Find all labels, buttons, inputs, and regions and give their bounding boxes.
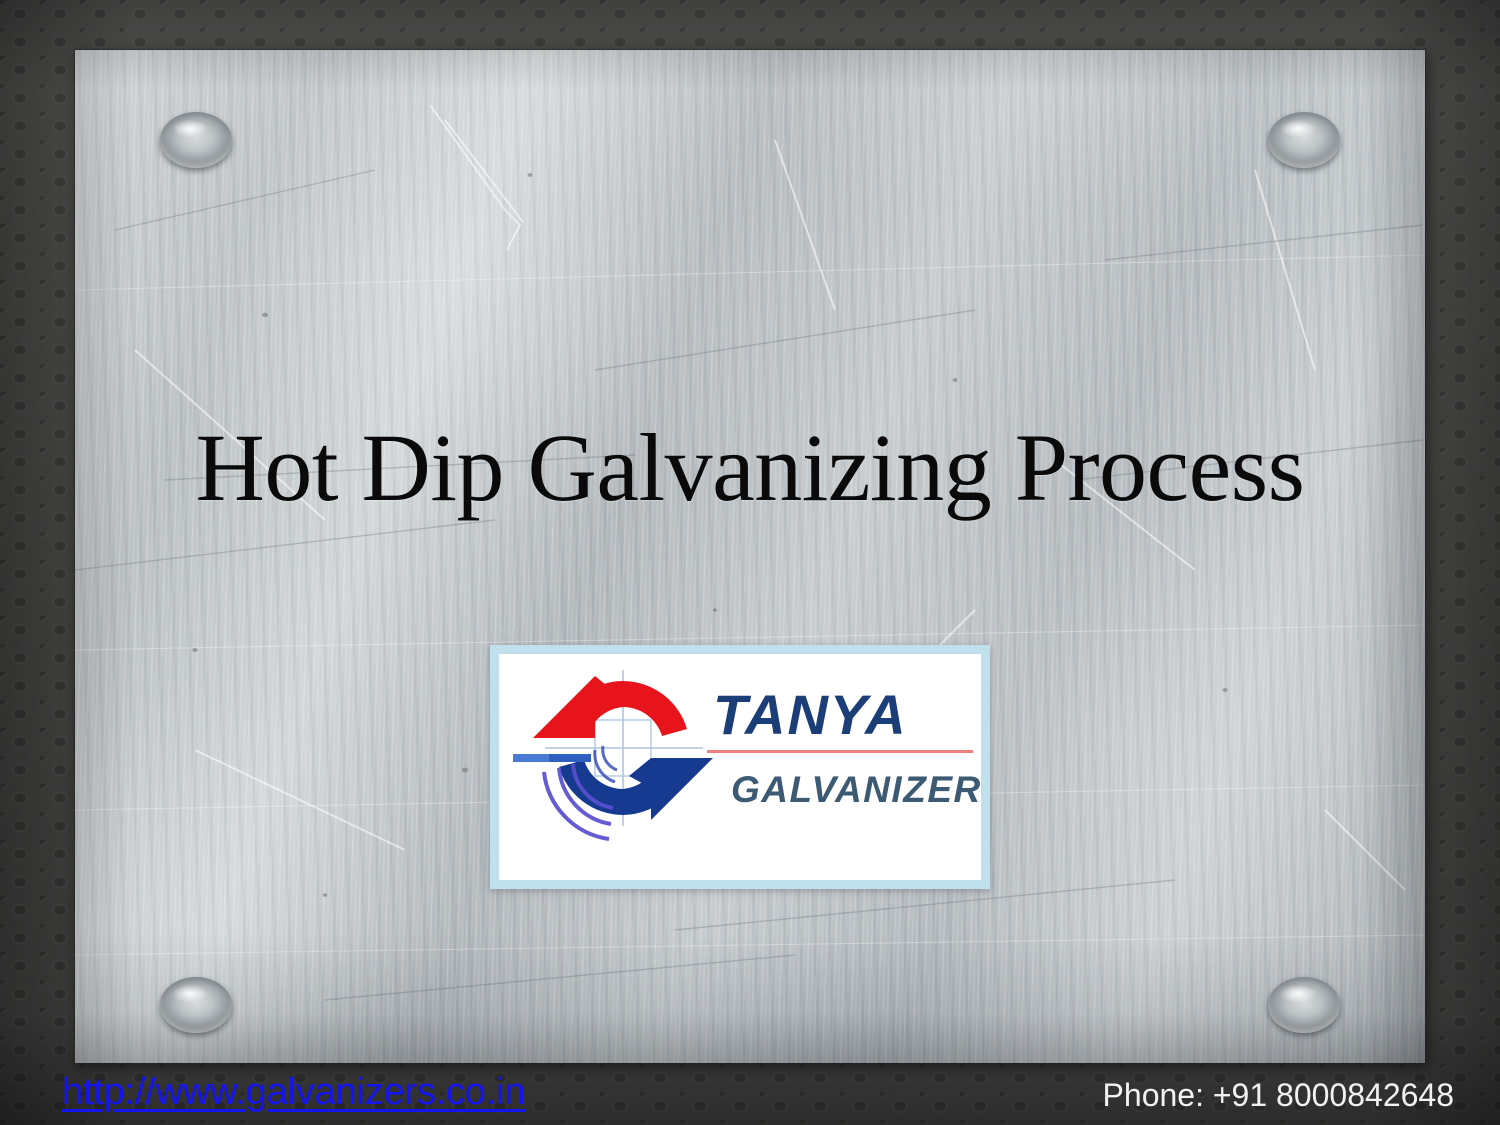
phone-number: Phone: +91 8000842648 xyxy=(1103,1077,1454,1114)
slide-title: Hot Dip Galvanizing Process xyxy=(0,418,1500,519)
presentation-slide: Hot Dip Galvanizing Process xyxy=(0,0,1500,1125)
logo-divider xyxy=(707,750,973,753)
rivet-top-right-icon xyxy=(1268,112,1340,168)
logo-navy-arrowhead xyxy=(651,758,713,820)
company-logo-image: TANYA GALVANIZERS xyxy=(499,654,981,880)
rivet-top-left-icon xyxy=(160,112,232,168)
metal-plate-shading xyxy=(75,50,1425,1063)
rivet-bottom-right-icon xyxy=(1268,977,1340,1033)
website-link[interactable]: http://www.galvanizers.co.in xyxy=(62,1071,525,1114)
rivet-bottom-left-icon xyxy=(160,977,232,1033)
logo-brand-secondary: GALVANIZERS xyxy=(731,769,981,810)
logo-red-arc xyxy=(623,681,687,736)
logo-brand-primary: TANYA xyxy=(713,683,908,746)
metal-plate-panel xyxy=(75,50,1425,1063)
company-logo-card: TANYA GALVANIZERS xyxy=(490,645,990,889)
logo-red-arrowhead xyxy=(533,676,595,738)
